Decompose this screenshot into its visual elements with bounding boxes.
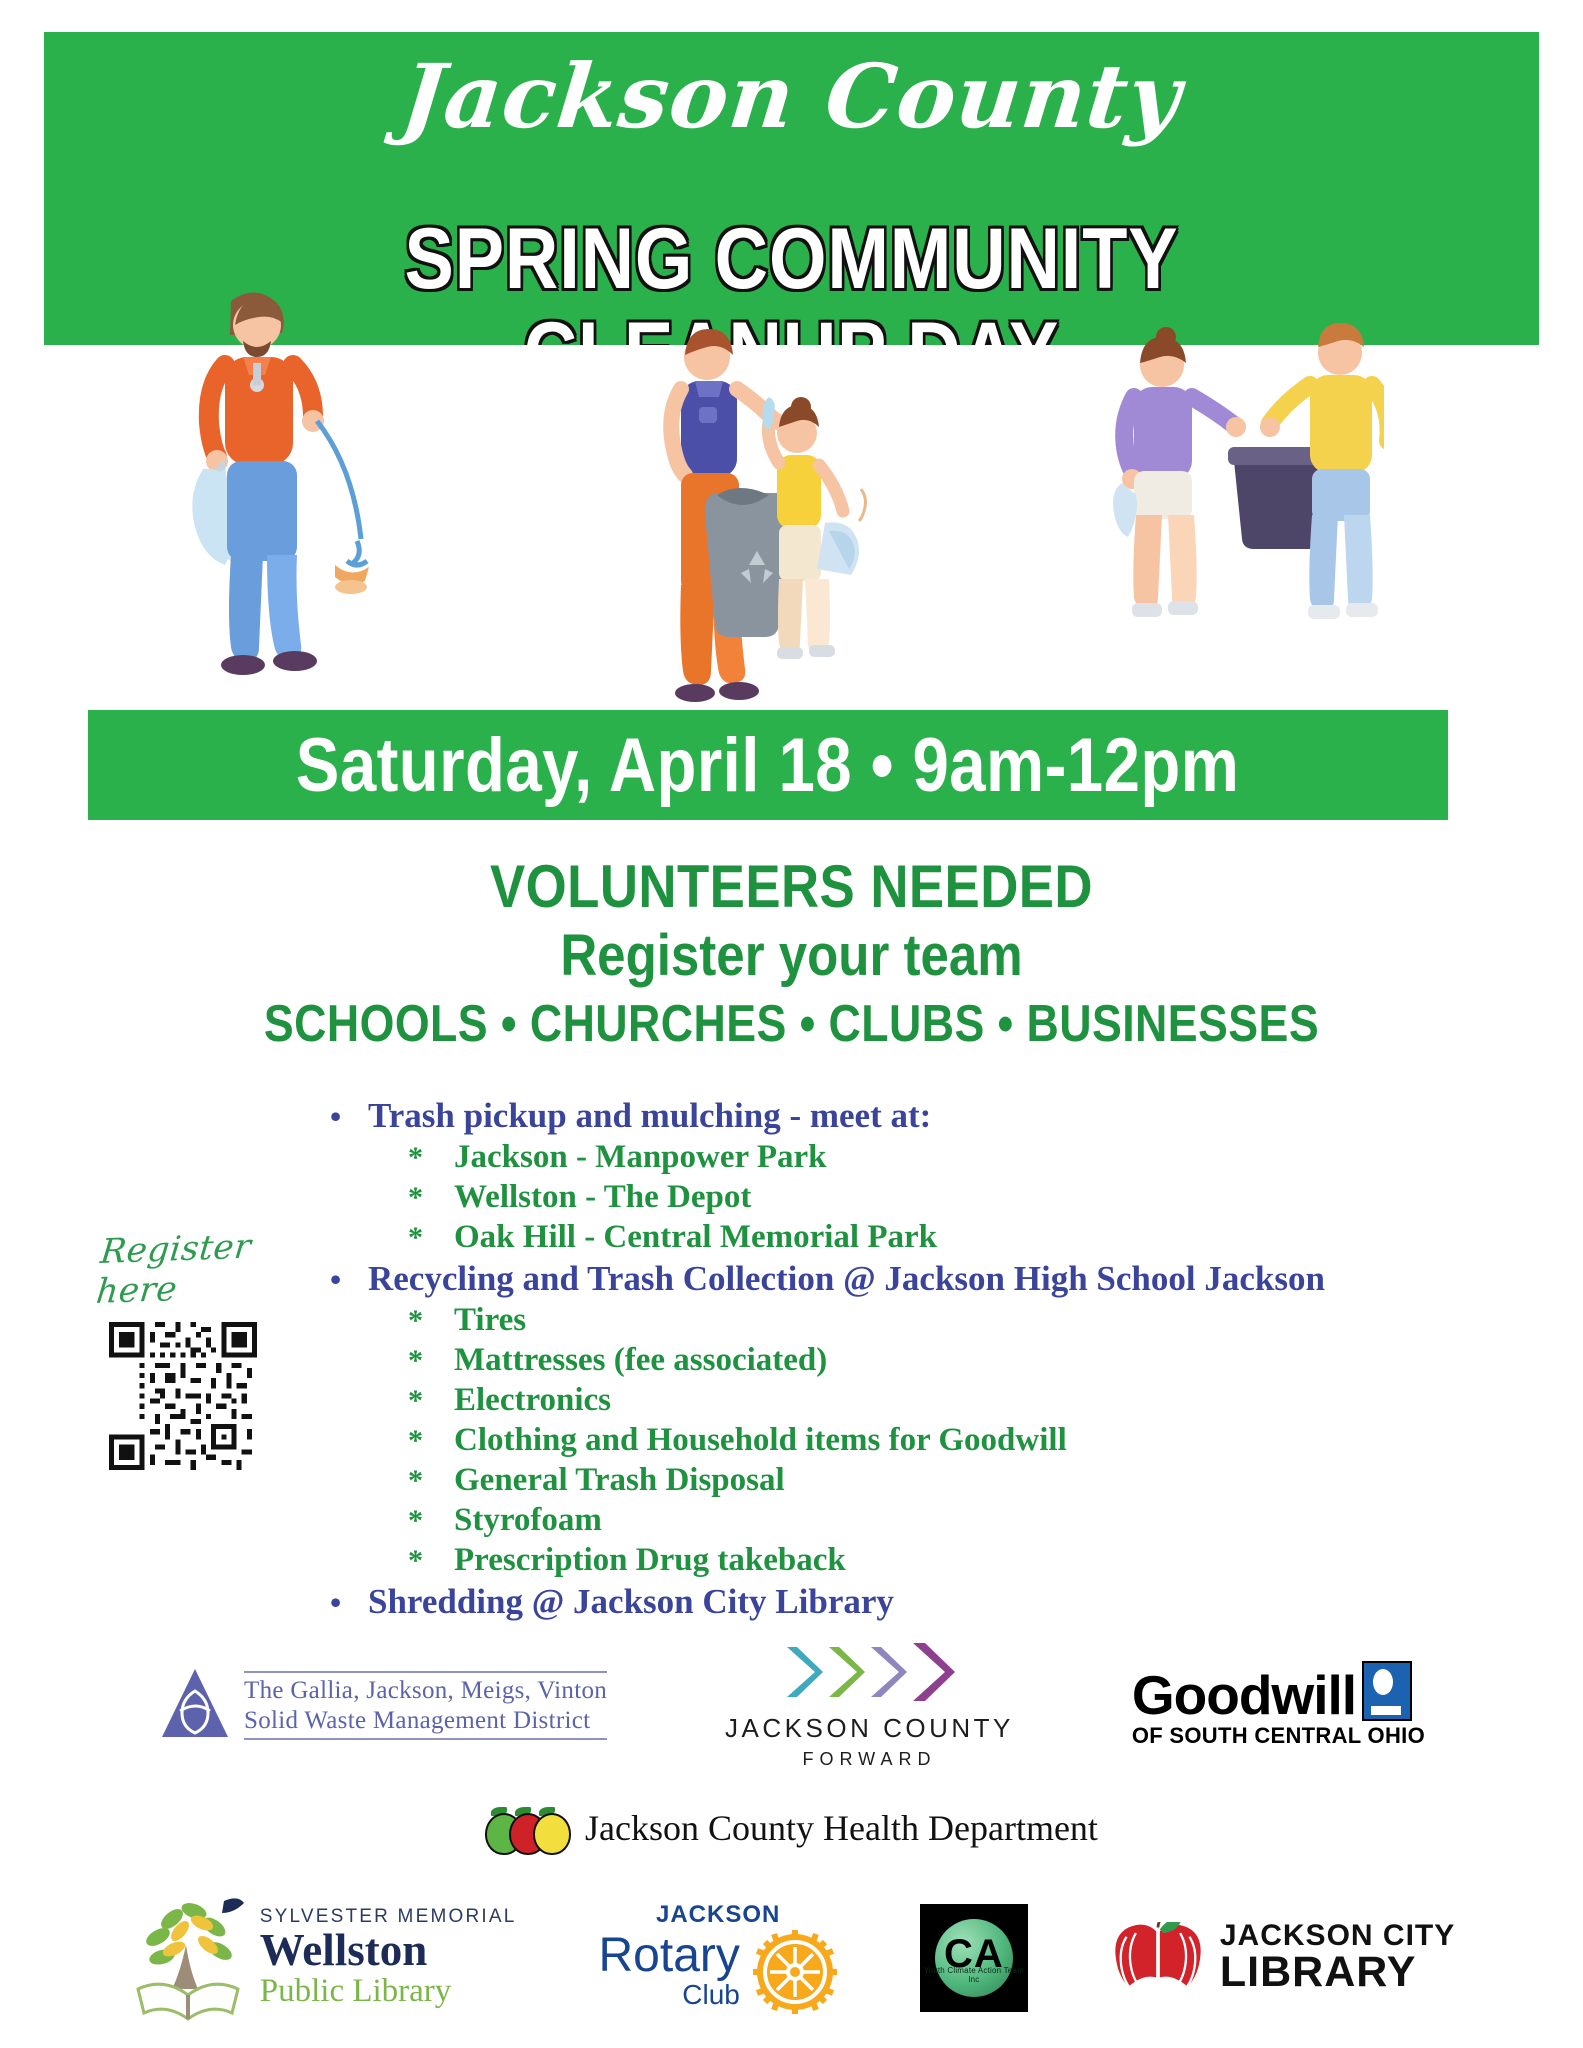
rotary-line-2: Rotary	[599, 1932, 740, 1980]
rotary-inner: Rotary Club	[599, 1929, 838, 2015]
bullet-icon: •	[330, 1098, 368, 1136]
trefoil-icon	[158, 1665, 232, 1745]
sub-list-item-label: Mattresses (fee associated)	[454, 1341, 827, 1380]
sub-list-item-label: General Trash Disposal	[454, 1461, 785, 1500]
logo-jackson-city-library: JACKSON CITY LIBRARY	[1110, 1922, 1455, 1994]
swmd-line-2: Solid Waste Management District	[244, 1706, 607, 1740]
sub-list-item: * Styrofoam	[408, 1501, 1510, 1540]
apples-icon	[485, 1803, 571, 1853]
date-time-text: Saturday, April 18 • 9am-12pm	[296, 722, 1239, 809]
illustration-strip	[44, 345, 1539, 710]
sub-list-item-label: Electronics	[454, 1381, 611, 1420]
logo-wellston-public-library: SYLVESTER MEMORIAL Wellston Public Libra…	[128, 1893, 517, 2023]
chevron-icon	[783, 1643, 823, 1701]
goodwill-sub: OF SOUTH CENTRAL OHIO	[1132, 1723, 1425, 1749]
register-your-team-subheading: Register your team	[95, 924, 1488, 988]
call-to-action: VOLUNTEERS NEEDED Register your team SCH…	[0, 855, 1583, 1053]
rotary-line-3: Club	[599, 1980, 740, 2011]
sub-list-item-label: Oak Hill - Central Memorial Park	[454, 1218, 937, 1257]
sub-list-item-label: Tires	[454, 1301, 526, 1340]
goodwill-g-smile-icon	[1362, 1661, 1412, 1721]
list-item: • Trash pickup and mulching - meet at:	[330, 1095, 1510, 1136]
jcl-line-1: JACKSON CITY	[1220, 1922, 1455, 1951]
register-here-label: Register here	[94, 1224, 329, 1312]
illustration-man-with-picker	[139, 265, 399, 705]
illustration-litter-speck	[849, 485, 879, 525]
rotary-wheel-icon	[752, 1929, 838, 2015]
chevron-icon	[825, 1643, 865, 1701]
star-bullet-icon: *	[408, 1303, 454, 1338]
goodwill-name: Goodwill	[1132, 1669, 1356, 1721]
sub-list-item-label: Wellston - The Depot	[454, 1178, 751, 1217]
star-bullet-icon: *	[408, 1383, 454, 1418]
list-item-label: Shredding @ Jackson City Library	[368, 1581, 894, 1622]
bullet-icon: •	[330, 1261, 368, 1299]
jcf-sub: FORWARD	[802, 1749, 936, 1770]
sub-list-item: * Wellston - The Depot	[408, 1178, 1510, 1217]
list-item-label: Trash pickup and mulching - meet at:	[368, 1095, 931, 1136]
logo-goodwill: Goodwill OF SOUTH CENTRAL OHIO	[1132, 1661, 1425, 1749]
sponsor-row-secondary: SYLVESTER MEMORIAL Wellston Public Libra…	[0, 1875, 1583, 2040]
sub-list-item: * General Trash Disposal	[408, 1461, 1510, 1500]
jcl-line-2: LIBRARY	[1220, 1952, 1455, 1993]
list-item: • Shredding @ Jackson City Library	[330, 1581, 1510, 1622]
sub-list-item-label: Prescription Drug takeback	[454, 1541, 846, 1580]
logo-youth-climate-action-team: CA Youth Climate Action Team Inc	[920, 1904, 1028, 2012]
goodwill-wordmark-row: Goodwill	[1132, 1661, 1412, 1721]
swmd-text-block: The Gallia, Jackson, Meigs, Vinton Solid…	[244, 1671, 607, 1740]
logo-jackson-county-health-department: Jackson County Health Department	[485, 1803, 1098, 1853]
wellston-line-3: Public Library	[260, 1975, 517, 2008]
star-bullet-icon: *	[408, 1140, 454, 1175]
sub-list-item: * Electronics	[408, 1381, 1510, 1420]
bullet-icon: •	[330, 1584, 368, 1622]
sub-list-item-label: Clothing and Household items for Goodwil…	[454, 1421, 1067, 1460]
chevron-icon	[867, 1643, 907, 1701]
sub-list-item: * Tires	[408, 1301, 1510, 1340]
star-bullet-icon: *	[408, 1503, 454, 1538]
qr-code[interactable]	[109, 1322, 257, 1470]
star-bullet-icon: *	[408, 1220, 454, 1255]
jcf-name: JACKSON COUNTY	[725, 1713, 1014, 1744]
sub-list-item: * Prescription Drug takeback	[408, 1541, 1510, 1580]
illustration-man-and-child	[629, 315, 899, 735]
list-item-label: Recycling and Trash Collection @ Jackson…	[368, 1258, 1325, 1299]
volunteers-needed-heading: VOLUNTEERS NEEDED	[95, 855, 1488, 918]
star-bullet-icon: *	[408, 1423, 454, 1458]
ycat-sub: Youth Climate Action Team Inc	[920, 1966, 1028, 1984]
star-bullet-icon: *	[408, 1343, 454, 1378]
date-time-banner: Saturday, April 18 • 9am-12pm	[88, 710, 1448, 820]
swmd-line-1: The Gallia, Jackson, Meigs, Vinton	[244, 1671, 607, 1706]
register-here-block: Register here	[95, 1228, 325, 1475]
rotary-wordmark: Rotary Club	[599, 1932, 740, 2011]
details-list: • Trash pickup and mulching - meet at: *…	[330, 1095, 1510, 1624]
health-department-name: Jackson County Health Department	[585, 1807, 1098, 1849]
sub-list-item: * Mattresses (fee associated)	[408, 1341, 1510, 1380]
chevron-group-icon	[783, 1641, 955, 1703]
audience-list: SCHOOLS • CHURCHES • CLUBS • BUSINESSES	[111, 996, 1472, 1053]
rotary-line-1: JACKSON	[656, 1901, 780, 1929]
script-title: Jackson County	[39, 52, 1543, 140]
chevron-icon	[909, 1639, 955, 1705]
sub-list-item: * Jackson - Manpower Park	[408, 1138, 1510, 1177]
wellston-line-2: Wellston	[260, 1928, 517, 1973]
sub-list-item: * Oak Hill - Central Memorial Park	[408, 1218, 1510, 1257]
apple-book-icon	[1110, 1922, 1206, 1994]
wellston-line-1: SYLVESTER MEMORIAL	[260, 1907, 517, 1926]
star-bullet-icon: *	[408, 1543, 454, 1578]
jackson-city-library-text-block: JACKSON CITY LIBRARY	[1220, 1922, 1455, 1993]
logo-solid-waste-management-district: The Gallia, Jackson, Meigs, Vinton Solid…	[158, 1665, 607, 1745]
star-bullet-icon: *	[408, 1463, 454, 1498]
sponsor-row-primary: The Gallia, Jackson, Meigs, Vinton Solid…	[0, 1640, 1583, 1770]
sub-list-item-label: Jackson - Manpower Park	[454, 1138, 826, 1177]
sub-list-item-label: Styrofoam	[454, 1501, 602, 1540]
logo-jackson-county-forward: JACKSON COUNTY FORWARD	[725, 1641, 1014, 1770]
star-bullet-icon: *	[408, 1180, 454, 1215]
sponsor-row-health: Jackson County Health Department	[0, 1790, 1583, 1866]
wellston-text-block: SYLVESTER MEMORIAL Wellston Public Libra…	[260, 1907, 517, 2008]
list-item: • Recycling and Trash Collection @ Jacks…	[330, 1258, 1510, 1299]
sub-list-item: * Clothing and Household items for Goodw…	[408, 1421, 1510, 1460]
illustration-woman-and-man-with-bin	[1084, 285, 1384, 705]
logo-jackson-rotary-club: JACKSON Rotary Club	[599, 1901, 838, 2015]
tree-and-book-icon	[128, 1893, 248, 2023]
